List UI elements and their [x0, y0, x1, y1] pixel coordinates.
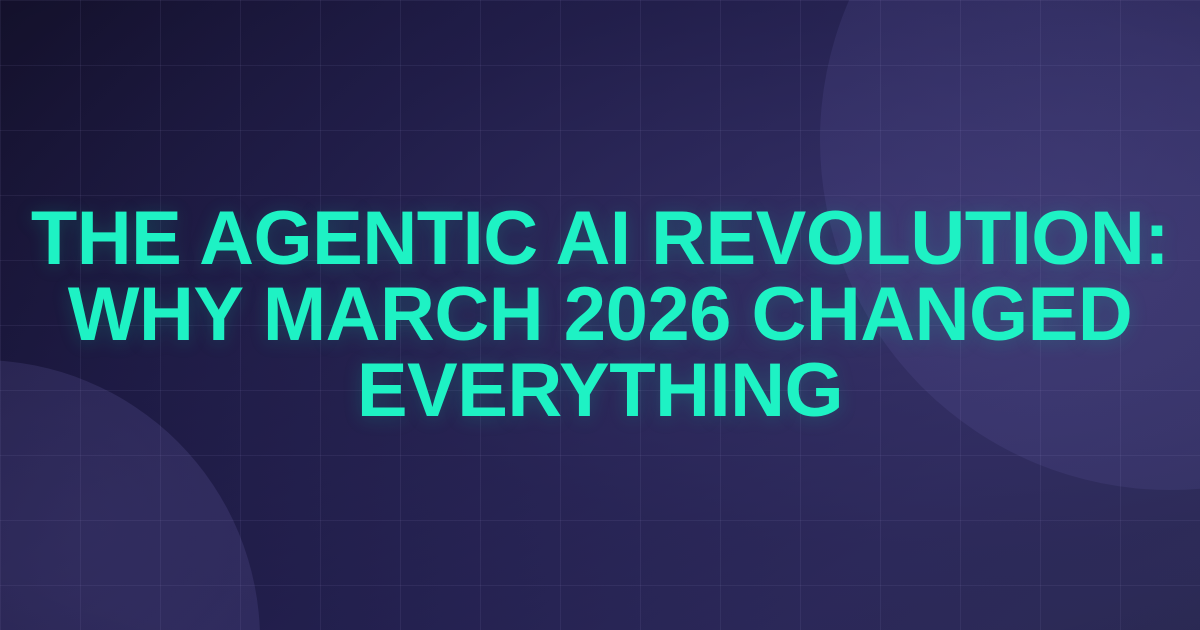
- page-title: The Agentic AI Revolution: Why March 202…: [26, 201, 1174, 429]
- content-area: The Agentic AI Revolution: Why March 202…: [0, 0, 1200, 630]
- social-share-card: The Agentic AI Revolution: Why March 202…: [0, 0, 1200, 630]
